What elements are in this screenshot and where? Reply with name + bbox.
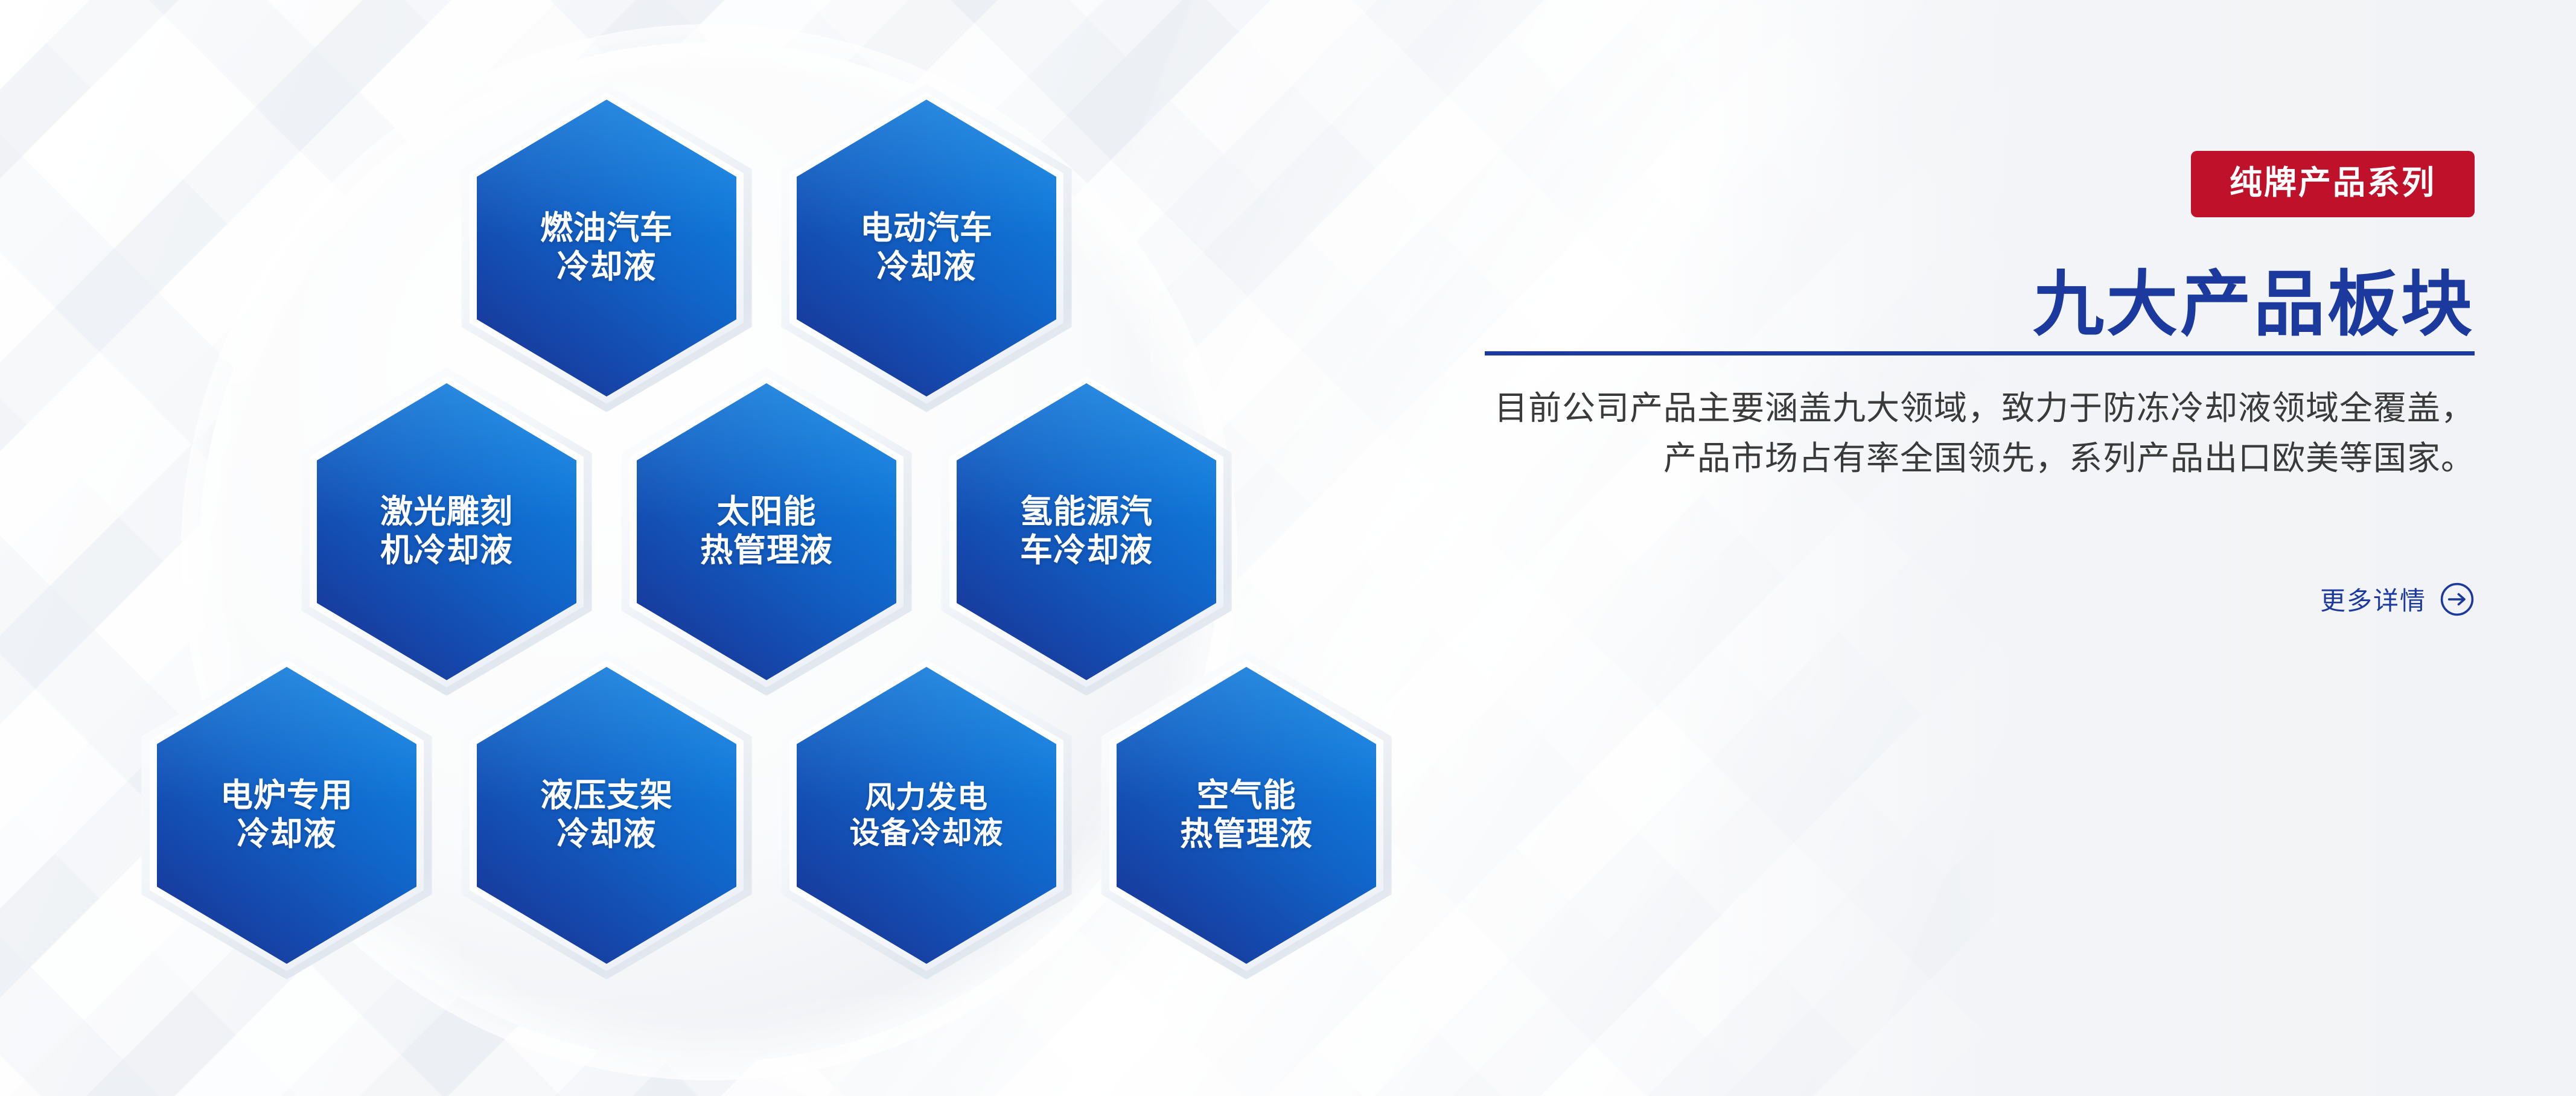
hex-label: 电炉专用 冷却液: [209, 777, 364, 853]
page-title-block: 九大产品板块: [1485, 268, 2475, 355]
description-text: 目前公司产品主要涵盖九大领域，致力于防冻冷却液领域全覆盖，产品市场占有率全国领先…: [1485, 383, 2475, 484]
product-sectors-banner: 燃油汽车 冷却液 电动汽车 冷却液 激光雕刻 机冷却液: [0, 0, 2576, 1096]
hex-label: 风力发电 设备冷却液: [839, 780, 1015, 851]
hex-label: 电动汽车 冷却液: [849, 209, 1004, 286]
more-details-label: 更多详情: [2320, 581, 2426, 617]
hex-label: 燃油汽车 冷却液: [529, 209, 684, 286]
hex-tile-hydraulic-support-coolant[interactable]: 液压支架 冷却液: [477, 667, 736, 964]
page-title: 九大产品板块: [2033, 268, 2475, 343]
hex-label: 氢能源汽 车冷却液: [1009, 493, 1164, 570]
status-badge: 纯牌产品系列: [2191, 151, 2475, 217]
hex-tile-air-energy-thermal-fluid[interactable]: 空气能 热管理液: [1117, 667, 1376, 964]
hex-tile-electric-furnace-coolant[interactable]: 电炉专用 冷却液: [157, 667, 416, 964]
hex-label: 液压支架 冷却液: [529, 777, 684, 853]
text-panel: 纯牌产品系列 九大产品板块 目前公司产品主要涵盖九大领域，致力于防冻冷却液领域全…: [1485, 151, 2475, 617]
hex-label: 空气能 热管理液: [1169, 777, 1324, 853]
hex-tile-wind-power-equipment-coolant[interactable]: 风力发电 设备冷却液: [797, 667, 1056, 964]
hex-tile-laser-engraver-coolant[interactable]: 激光雕刻 机冷却液: [317, 383, 576, 680]
more-details-link[interactable]: 更多详情: [1485, 581, 2475, 617]
hex-label: 激光雕刻 机冷却液: [369, 493, 524, 570]
hex-tile-hydrogen-vehicle-coolant[interactable]: 氢能源汽 车冷却液: [957, 383, 1216, 680]
hex-tile-solar-thermal-fluid[interactable]: 太阳能 热管理液: [637, 383, 896, 680]
title-underline: [1485, 351, 2475, 355]
hex-tile-fuel-vehicle-coolant[interactable]: 燃油汽车 冷却液: [477, 100, 736, 397]
hex-tile-electric-vehicle-coolant[interactable]: 电动汽车 冷却液: [797, 100, 1056, 397]
circle-arrow-right-icon: [2440, 582, 2475, 617]
hex-label: 太阳能 热管理液: [689, 493, 844, 570]
hexagon-grid: 燃油汽车 冷却液 电动汽车 冷却液 激光雕刻 机冷却液: [0, 0, 1509, 1096]
